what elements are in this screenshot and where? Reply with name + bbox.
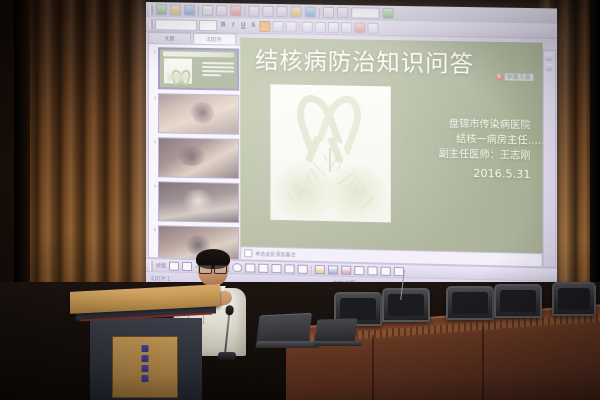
- bronchial-branch: [288, 192, 294, 202]
- thumb-text-lines: [202, 62, 234, 79]
- lectern-inscription: [142, 345, 149, 382]
- conference-chair: [446, 286, 494, 320]
- save-icon[interactable]: [184, 5, 195, 16]
- slide-line-3: 副主任医师：王志刚: [385, 146, 531, 164]
- tab-outline[interactable]: 大纲: [148, 32, 191, 44]
- watermark-text: 中国人民: [505, 74, 534, 82]
- shadow-button[interactable]: S: [249, 21, 257, 30]
- redo-icon[interactable]: [305, 7, 316, 18]
- insert-chart-icon[interactable]: [337, 7, 348, 18]
- align-center-button[interactable]: [272, 21, 283, 32]
- thumb-photo: [159, 138, 238, 178]
- increase-font-button[interactable]: [328, 21, 339, 32]
- desk-seam: [482, 327, 484, 400]
- thumbnail-slide-2[interactable]: [158, 93, 239, 135]
- dash-style-icon[interactable]: [367, 266, 377, 275]
- diagram-icon[interactable]: [271, 264, 281, 273]
- toolbar-separator: [311, 264, 312, 274]
- laptop-base: [255, 341, 321, 348]
- align-left-button[interactable]: [259, 20, 270, 31]
- line-style-icon[interactable]: [354, 266, 364, 275]
- slide-edit-area[interactable]: 结核病防治知识问答 S 中国人民: [240, 38, 542, 254]
- toolbar-separator: [198, 5, 199, 15]
- paste-icon[interactable]: [276, 6, 287, 17]
- status-slide-number: 幻灯片 1: [151, 275, 170, 282]
- slide-title[interactable]: 结核病防治知识问答: [255, 50, 530, 78]
- lecture-hall-photo: B I U S 大纲 幻灯片: [0, 0, 600, 400]
- thumbnail-number: 3: [151, 137, 156, 144]
- conference-chair: [382, 288, 430, 322]
- bronchial-branch: [307, 173, 310, 180]
- print-icon[interactable]: [202, 5, 213, 16]
- thumb-lung-icon: [167, 70, 189, 81]
- underline-button[interactable]: U: [239, 21, 247, 30]
- bronchial-branch: [361, 187, 364, 194]
- slide-artwork[interactable]: [270, 84, 391, 222]
- laptop-base: [313, 341, 362, 346]
- clipart-icon[interactable]: [285, 264, 295, 273]
- bronchial-branch: [337, 162, 343, 172]
- thumbnail-slide-4[interactable]: [158, 181, 239, 223]
- thumb-title-bar: [163, 51, 234, 57]
- current-slide[interactable]: 结核病防治知识问答 S 中国人民: [240, 38, 542, 254]
- bronchial-branch: [354, 181, 360, 191]
- shadow-style-icon[interactable]: [381, 267, 391, 276]
- undo-icon[interactable]: [291, 6, 302, 17]
- lectern-body: [90, 318, 202, 400]
- font-color-button[interactable]: [354, 22, 365, 33]
- thumbnail-slide-1[interactable]: [158, 47, 239, 91]
- toolbar-grip-icon[interactable]: [150, 5, 153, 15]
- lectern-front-panel: [112, 336, 178, 398]
- thumbnail-item[interactable]: 2: [151, 93, 239, 135]
- thumbnail-number: 4: [151, 181, 156, 188]
- align-right-button[interactable]: [286, 21, 297, 32]
- fill-color-icon[interactable]: [315, 265, 325, 274]
- picture-icon[interactable]: [298, 265, 308, 274]
- task-pane-button[interactable]: [546, 64, 553, 71]
- decrease-font-button[interactable]: [341, 22, 352, 33]
- thumb-photo: [159, 182, 238, 222]
- presenter-laptop: [258, 314, 320, 348]
- bronchial-branch: [324, 155, 327, 162]
- open-folder-icon[interactable]: [170, 4, 181, 15]
- thumbnail-item[interactable]: 1: [151, 47, 239, 91]
- thumbnail-slide-3[interactable]: [158, 137, 239, 179]
- conference-chair: [494, 284, 542, 318]
- secondary-laptop: [316, 318, 362, 346]
- line-color-icon[interactable]: [328, 265, 338, 274]
- bold-button[interactable]: B: [219, 21, 227, 30]
- thumbnail-number: 1: [151, 47, 156, 54]
- lectern: [72, 288, 218, 400]
- microphone-base: [218, 352, 236, 360]
- lungs-icon: [274, 147, 387, 220]
- toolbar-grip-icon[interactable]: [150, 261, 153, 271]
- font-color-icon[interactable]: [341, 266, 351, 275]
- laptop-lid: [315, 318, 358, 343]
- help-icon[interactable]: [383, 8, 394, 19]
- thumbnail-item[interactable]: 3: [151, 137, 239, 179]
- toolbar-separator: [244, 6, 245, 16]
- thumbnail-number: 5: [151, 225, 156, 232]
- cut-icon[interactable]: [248, 6, 259, 17]
- desk-seam: [372, 335, 374, 400]
- slide-body-text[interactable]: 盘锦市传染病医院 结核一病房主任…… 副主任医师：王志刚 2016.5.31: [385, 115, 531, 183]
- task-pane[interactable]: [543, 50, 556, 268]
- italic-button[interactable]: I: [229, 21, 237, 30]
- bronchial-branch: [362, 196, 375, 209]
- font-name-combo[interactable]: [155, 19, 197, 31]
- font-size-combo[interactable]: [199, 19, 217, 30]
- copy-icon[interactable]: [262, 6, 273, 17]
- new-file-icon[interactable]: [156, 4, 167, 15]
- print-preview-icon[interactable]: [216, 5, 227, 16]
- watermark-dot-icon: S: [496, 73, 503, 80]
- tab-slides[interactable]: 幻灯片: [193, 33, 236, 45]
- zoom-combo[interactable]: [351, 7, 379, 19]
- broadcaster-watermark: S 中国人民: [496, 73, 534, 81]
- draw-menu-label[interactable]: 绘图: [156, 262, 166, 269]
- thumb-photo: [159, 94, 238, 134]
- slide-thumbnail-pane[interactable]: 1 2: [148, 43, 242, 260]
- insert-table-icon[interactable]: [323, 7, 334, 18]
- toolbar-separator: [319, 7, 320, 17]
- numbering-button[interactable]: [315, 21, 326, 32]
- toolbar-separator: [299, 21, 300, 31]
- spellcheck-icon[interactable]: [230, 5, 241, 16]
- presenter-glasses: [199, 265, 227, 272]
- bronchial-branch: [309, 168, 318, 180]
- slide-date: 2016.5.31: [385, 164, 531, 184]
- notes-placeholder: 单击此处添加备注: [255, 250, 295, 258]
- thumbnail-number: 2: [151, 93, 156, 100]
- slide-design-button[interactable]: [367, 22, 378, 33]
- thumbnail-item[interactable]: 4: [151, 181, 239, 223]
- bronchial-branch: [294, 183, 312, 197]
- toolbar-grip-icon[interactable]: [150, 19, 153, 29]
- wordart-icon[interactable]: [258, 264, 268, 273]
- bullets-button[interactable]: [302, 21, 313, 32]
- conference-chair: [552, 282, 596, 316]
- task-pane-button[interactable]: [546, 54, 553, 61]
